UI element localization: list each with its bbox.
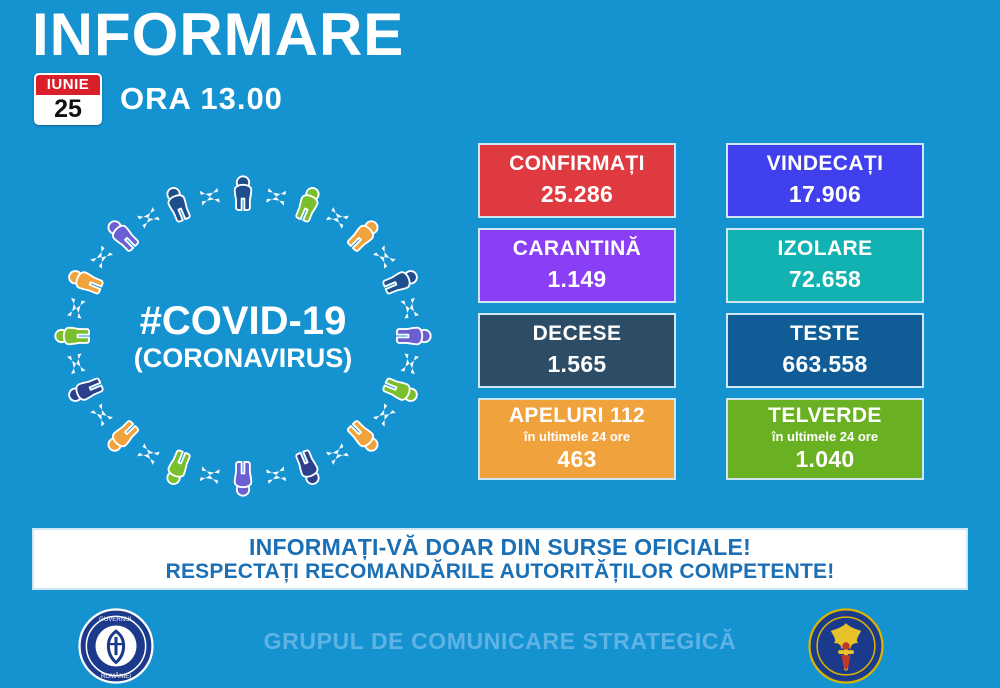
stat-card-carantina[interactable]: CARANTINĂ 1.149: [478, 228, 676, 303]
person-figure-icon: [66, 377, 104, 405]
stat-label: IZOLARE: [732, 237, 918, 261]
connection-arrow-icon: [137, 207, 160, 229]
svg-text:GUVERNUL: GUVERNUL: [99, 616, 133, 623]
stat-label: CONFIRMAȚI: [484, 152, 670, 176]
connection-arrow-icon: [400, 353, 419, 374]
connection-arrow-icon: [200, 188, 220, 206]
connection-arrow-icon: [373, 246, 396, 269]
person-figure-icon: [66, 267, 104, 295]
connection-arrow-icon: [326, 207, 349, 229]
person-figure-icon: [55, 328, 89, 345]
people-circle-icon: #COVID-19 (CORONAVIRUS): [28, 160, 458, 515]
person-figure-icon: [294, 449, 322, 487]
page-title: INFORMARE: [32, 2, 404, 68]
person-figure-icon: [235, 462, 252, 496]
person-figure-icon: [397, 328, 431, 345]
report-hour: ORA 13.00: [120, 81, 283, 117]
stats-row: APELURI 112 în ultimele 24 ore 463 TELVE…: [478, 398, 928, 480]
connection-arrow-icon: [266, 466, 286, 484]
connection-arrow-icon: [67, 353, 86, 374]
stat-value: 17.906: [732, 182, 918, 207]
people-circle-svg: [28, 160, 458, 515]
notice-line-2: RESPECTAȚI RECOMANDĂRILE AUTORITĂȚILOR C…: [166, 560, 835, 584]
stat-value: 25.286: [484, 182, 670, 207]
stat-value: 1.149: [484, 267, 670, 292]
calendar-month: IUNIE: [36, 75, 100, 95]
connection-arrow-icon: [326, 443, 349, 465]
stat-label: TESTE: [732, 322, 918, 346]
connection-arrow-icon: [200, 466, 220, 484]
stat-label: APELURI 112: [484, 404, 670, 428]
stat-value: 1.040: [732, 447, 918, 472]
stat-label: CARANTINĂ: [484, 237, 670, 261]
calendar-icon: IUNIE 25: [34, 73, 102, 125]
connection-arrow-icon: [137, 443, 160, 465]
stats-row: CONFIRMAȚI 25.286 VINDECAȚI 17.906: [478, 143, 928, 218]
stat-value: 1.565: [484, 352, 670, 377]
connection-arrow-icon: [400, 298, 419, 319]
person-figure-icon: [164, 449, 192, 487]
stat-value: 663.558: [732, 352, 918, 377]
stat-card-vindecati[interactable]: VINDECAȚI 17.906: [726, 143, 924, 218]
stats-row: DECESE 1.565 TESTE 663.558: [478, 313, 928, 388]
stat-label: TELVERDE: [732, 404, 918, 428]
stats-grid: CONFIRMAȚI 25.286 VINDECAȚI 17.906 CARAN…: [478, 143, 928, 490]
stat-label: DECESE: [484, 322, 670, 346]
stat-card-izolare[interactable]: IZOLARE 72.658: [726, 228, 924, 303]
stat-value: 463: [484, 447, 670, 472]
person-figure-icon: [382, 267, 420, 295]
stat-card-teste[interactable]: TESTE 663.558: [726, 313, 924, 388]
official-sources-notice: INFORMAȚI-VĂ DOAR DIN SURSE OFICIALE! RE…: [32, 528, 968, 590]
person-figure-icon: [104, 217, 140, 253]
person-figure-icon: [346, 217, 382, 253]
connection-arrow-icon: [373, 403, 396, 426]
infographic-root: INFORMARE IUNIE 25 ORA 13.00 #COVID-19 (…: [0, 0, 1000, 688]
person-figure-icon: [104, 419, 140, 455]
stat-sublabel: în ultimele 24 ore: [732, 429, 918, 445]
connection-arrow-icon: [90, 246, 113, 269]
person-figure-icon: [235, 176, 252, 210]
stats-row: CARANTINĂ 1.149 IZOLARE 72.658: [478, 228, 928, 303]
calendar-day: 25: [36, 95, 100, 123]
connection-arrow-icon: [67, 298, 86, 319]
date-bar: IUNIE 25 ORA 13.00: [34, 73, 283, 125]
svg-text:ROMÂNIEI: ROMÂNIEI: [101, 673, 131, 680]
connection-arrow-icon: [90, 403, 113, 426]
person-figure-icon: [164, 185, 192, 223]
footer: GUVERNUL ROMÂNIEI GRUPUL DE COMUNICARE S…: [0, 604, 1000, 688]
person-figure-icon: [382, 377, 420, 405]
connection-arrow-icon: [266, 188, 286, 206]
stat-card-apeluri-112[interactable]: APELURI 112 în ultimele 24 ore 463: [478, 398, 676, 480]
person-figure-icon: [294, 185, 322, 223]
stat-value: 72.658: [732, 267, 918, 292]
person-figure-icon: [346, 419, 382, 455]
stat-card-confirmati[interactable]: CONFIRMAȚI 25.286: [478, 143, 676, 218]
stat-card-telverde[interactable]: TELVERDE în ultimele 24 ore 1.040: [726, 398, 924, 480]
departamentul-situatii-urgenta-seal-icon: [808, 608, 884, 684]
stat-sublabel: în ultimele 24 ore: [484, 429, 670, 445]
stat-card-decese[interactable]: DECESE 1.565: [478, 313, 676, 388]
stat-label: VINDECAȚI: [732, 152, 918, 176]
notice-line-1: INFORMAȚI-VĂ DOAR DIN SURSE OFICIALE!: [249, 534, 751, 560]
